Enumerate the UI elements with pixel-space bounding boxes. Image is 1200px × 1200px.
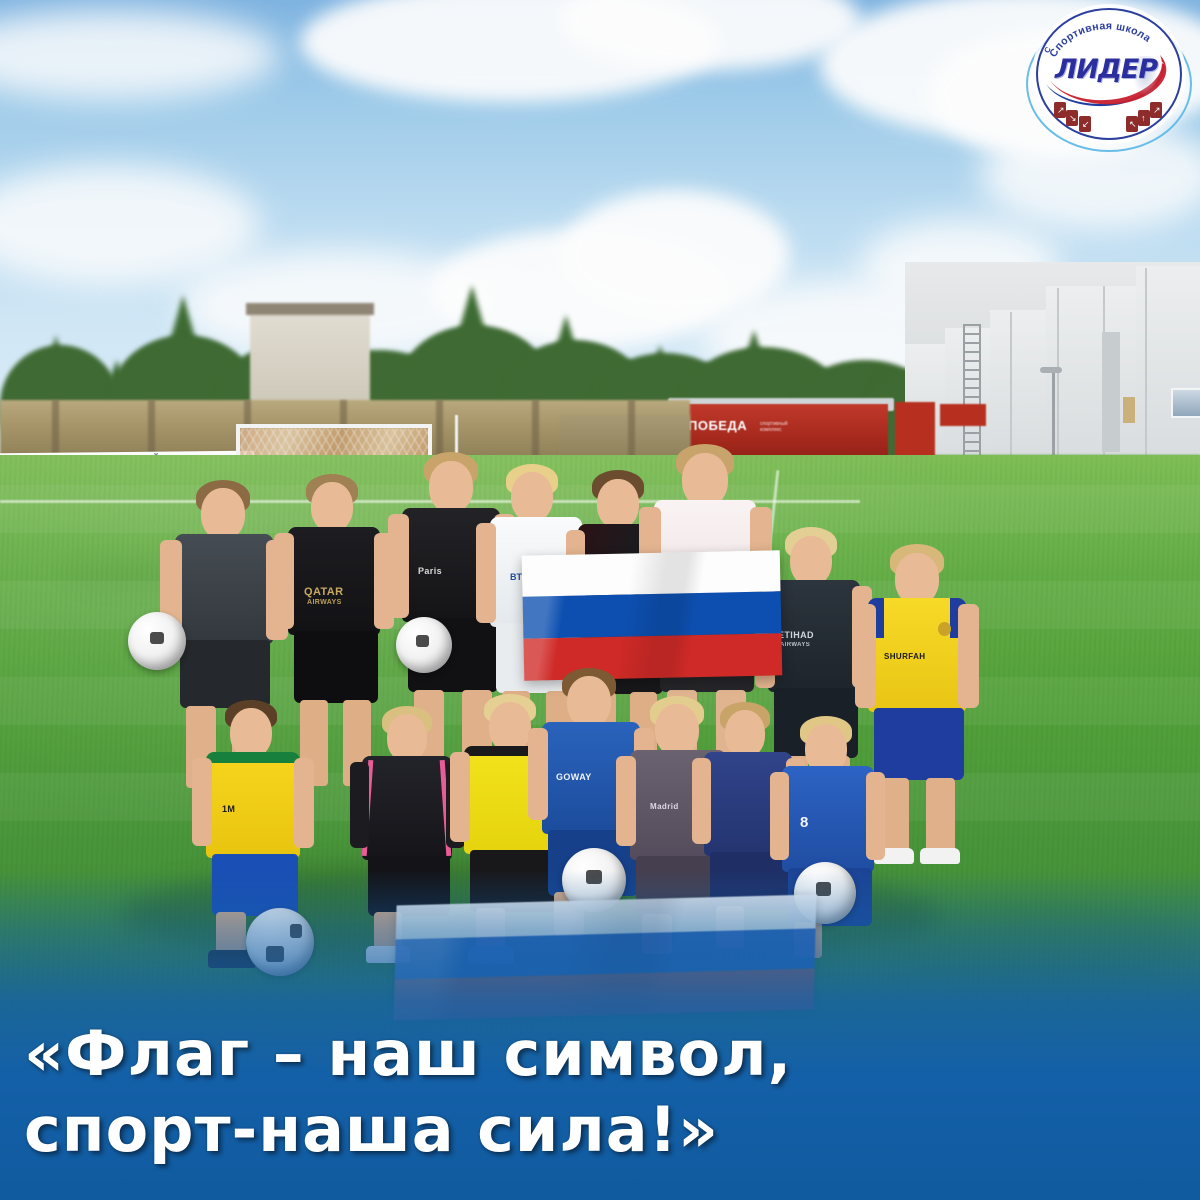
football-ball [128, 612, 186, 670]
logo-pictograms: ↗ ↘ ↙ ↖ ↑ ↗ [1052, 102, 1164, 138]
poster-canvas: ПОБЕДА спортивныйкомплекс УЧАСТНИКАМ СОР… [0, 0, 1200, 1200]
jersey-text: Paris [418, 566, 442, 576]
building-roof [246, 303, 374, 315]
jersey-sponsor-text: GOWAY [556, 772, 592, 782]
club-crest-icon [938, 622, 951, 636]
athlete-sprinting-icon: ↑ [1138, 110, 1150, 126]
jersey-number: 8 [800, 814, 809, 831]
russian-flag-held [522, 550, 783, 680]
poster-caption: «Флаг – наш символ, спорт-наша сила!» [24, 1016, 1144, 1168]
caption-line-2: спорт-наша сила!» [24, 1092, 1144, 1168]
caption-line-1: «Флаг – наш символ, [24, 1017, 792, 1090]
jersey-sponsor-text: Madrid [650, 802, 679, 811]
athlete-walking-icon: ↗ [1150, 102, 1162, 118]
athlete-skiing-icon: ↘ [1066, 110, 1078, 126]
jersey-sponsor-subtext: AIRWAYS [307, 599, 342, 606]
jersey-collar [206, 752, 300, 763]
background-building [250, 310, 370, 410]
athlete-throwing-icon: ↖ [1126, 116, 1138, 132]
pobeda-sign-subtext: спортивныйкомплекс [760, 421, 788, 433]
athlete-jumping-icon: ↙ [1079, 116, 1091, 132]
jersey-sponsor-text: SHURFAH [884, 652, 925, 661]
athlete-running-icon: ↗ [1054, 102, 1066, 118]
jersey-sponsor-text: ETIHAD [778, 630, 814, 640]
logo-main-text: ЛИДЕР [1046, 54, 1166, 85]
red-sign-far [940, 404, 986, 426]
football-ball [396, 617, 452, 673]
sports-hall-building [905, 262, 1200, 477]
jersey-sponsor-text: 1M [222, 804, 235, 814]
pobeda-sign-text: ПОБЕДА [688, 418, 747, 433]
jersey-sponsor-text: QATAR [304, 586, 343, 598]
school-logo: С Спортивная школа ЛИДЕР ↗ ↘ ↙ ↖ ↑ ↗ [1024, 2, 1192, 152]
jersey-sponsor-subtext: AIRWAYS [780, 642, 810, 648]
